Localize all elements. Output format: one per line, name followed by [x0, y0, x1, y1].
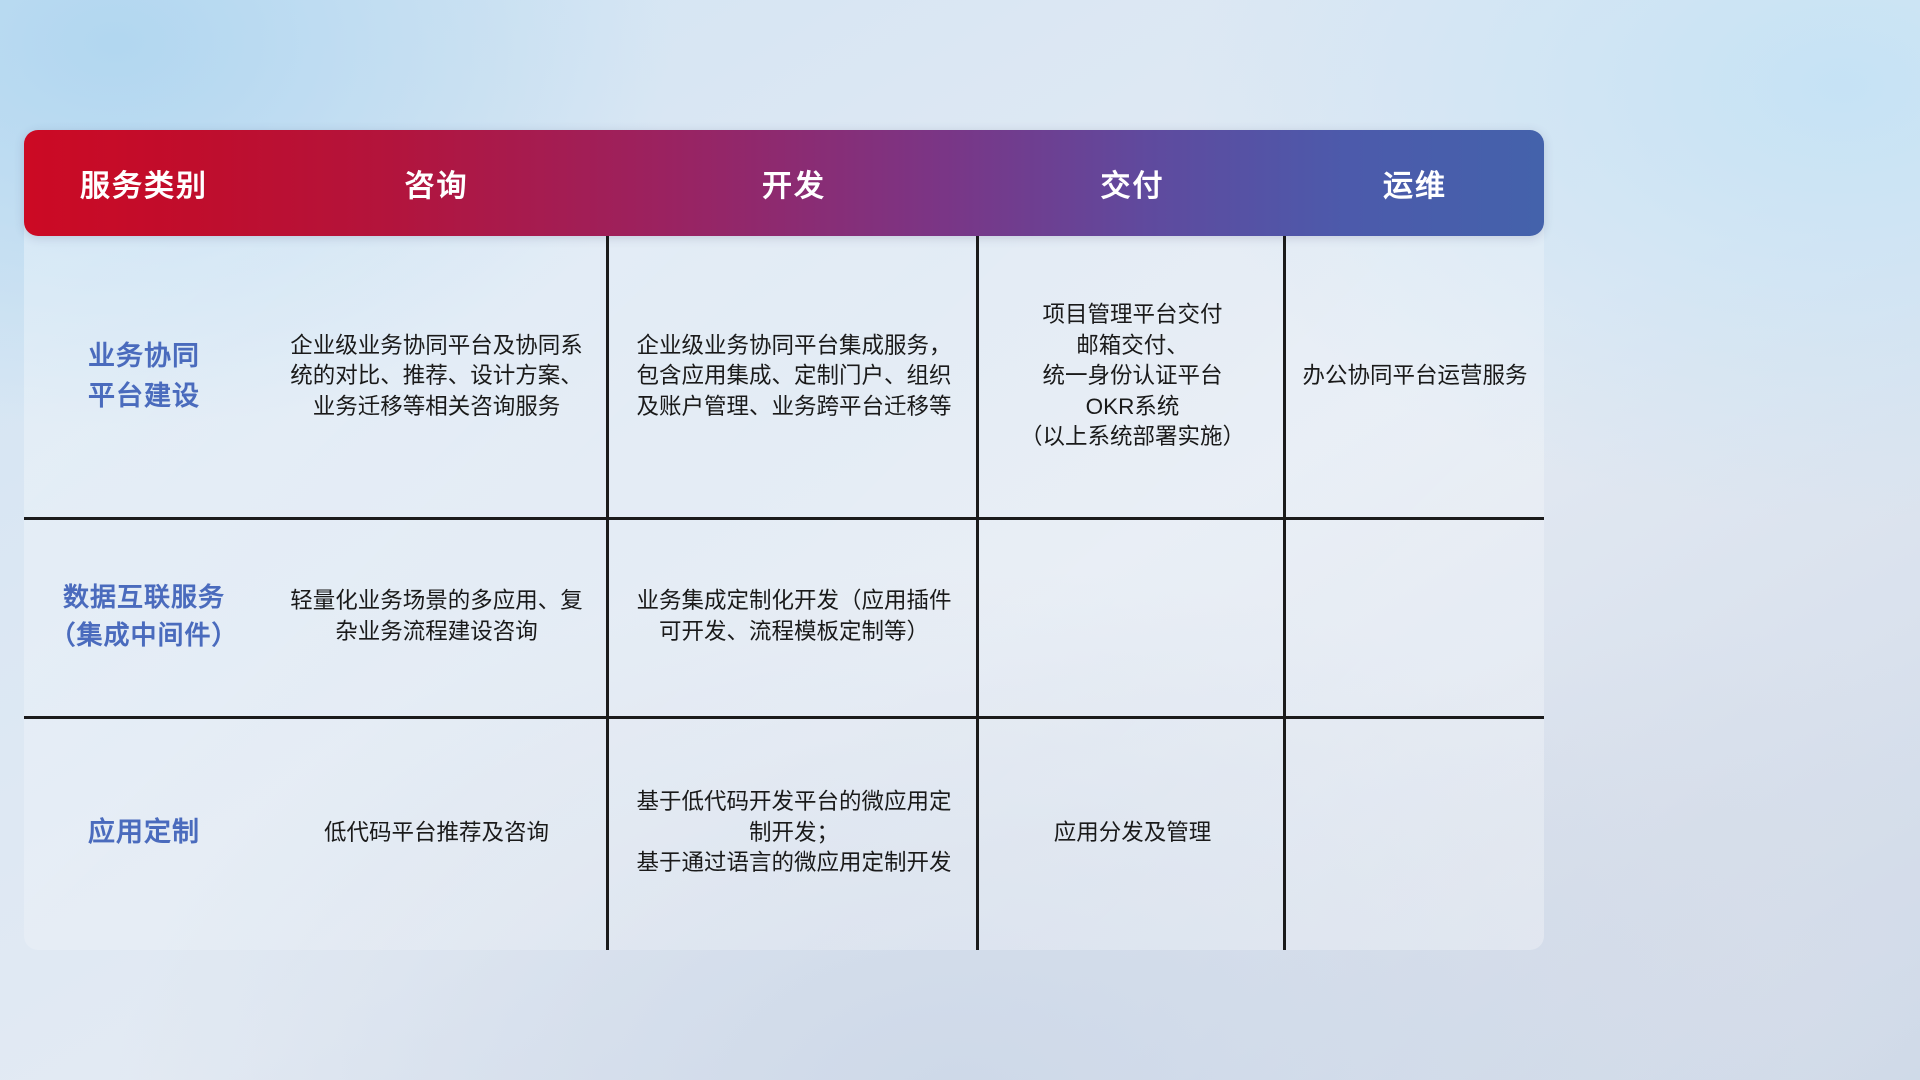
cell-delivery-row-1 [979, 517, 1286, 716]
table-row: 业务协同 平台建设 企业级业务协同平台及协同系 统的对比、推荐、设计方案、 业务… [24, 236, 1544, 517]
row-category-application-customization: 应用定制 [24, 716, 264, 950]
header-label-operations: 运维 [1383, 161, 1447, 205]
header-label-delivery: 交付 [1101, 161, 1165, 205]
row-category-business-collaboration-platform: 业务协同 平台建设 [24, 236, 264, 517]
cell-consulting-row-2: 低代码平台推荐及咨询 [264, 716, 609, 950]
cell-operations-row-1 [1286, 517, 1544, 716]
table-body: 业务协同 平台建设 企业级业务协同平台及协同系 统的对比、推荐、设计方案、 业务… [24, 236, 1544, 950]
cell-operations-row-2 [1286, 716, 1544, 950]
table-row: 应用定制 低代码平台推荐及咨询 基于低代码开发平台的微应用定 制开发； 基于通过… [24, 716, 1544, 950]
cell-consulting-row-0: 企业级业务协同平台及协同系 统的对比、推荐、设计方案、 业务迁移等相关咨询服务 [264, 236, 609, 517]
cell-development-row-2: 基于低代码开发平台的微应用定 制开发； 基于通过语言的微应用定制开发 [609, 716, 979, 950]
header-label-service-category: 服务类别 [80, 161, 208, 205]
cell-operations-row-0: 办公协同平台运营服务 [1286, 236, 1544, 517]
header-cell-service-category: 服务类别 [24, 130, 264, 236]
cell-development-row-1: 业务集成定制化开发（应用插件 可开发、流程模板定制等） [609, 517, 979, 716]
table-header-row: 服务类别 咨询 开发 交付 运维 [24, 130, 1544, 236]
header-label-consulting: 咨询 [405, 161, 469, 205]
cell-delivery-row-2: 应用分发及管理 [979, 716, 1286, 950]
service-matrix-table: 服务类别 咨询 开发 交付 运维 业务协同 平台建设 企业级业务协同平台及协同系… [24, 130, 1544, 950]
cell-development-row-0: 企业级业务协同平台集成服务， 包含应用集成、定制门户、组织 及账户管理、业务跨平… [609, 236, 979, 517]
header-cell-development: 开发 [609, 130, 979, 236]
header-cell-operations: 运维 [1286, 130, 1544, 236]
row-category-data-interconnection-service: 数据互联服务 （集成中间件） [24, 517, 264, 716]
header-cell-delivery: 交付 [979, 130, 1286, 236]
cell-delivery-row-0: 项目管理平台交付 邮箱交付、 统一身份认证平台 OKR系统 （以上系统部署实施） [979, 236, 1286, 517]
table-row: 数据互联服务 （集成中间件） 轻量化业务场景的多应用、复 杂业务流程建设咨询 业… [24, 517, 1544, 716]
header-label-development: 开发 [762, 161, 826, 205]
header-cell-consulting: 咨询 [264, 130, 609, 236]
cell-consulting-row-1: 轻量化业务场景的多应用、复 杂业务流程建设咨询 [264, 517, 609, 716]
